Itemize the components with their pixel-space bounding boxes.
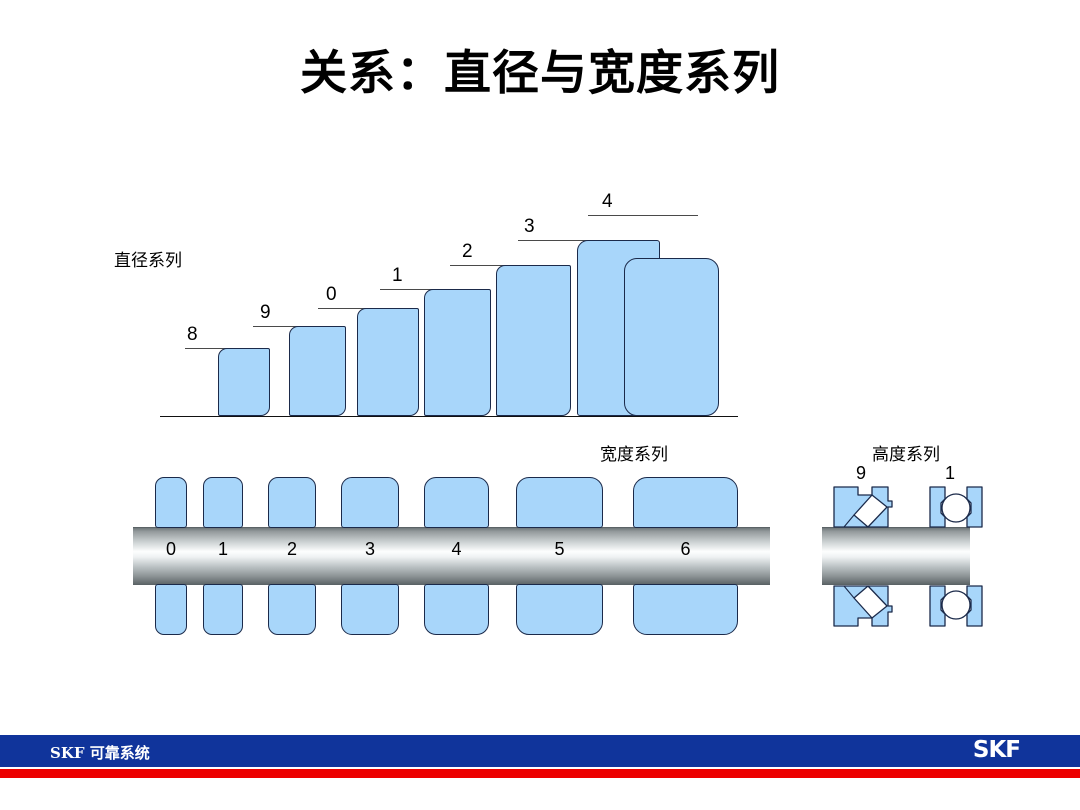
height-series-label: 高度系列 bbox=[872, 440, 940, 465]
width-bearing-top-6 bbox=[633, 477, 738, 528]
skf-logo: SKF bbox=[973, 737, 1020, 763]
width-bearing-bottom-0 bbox=[155, 584, 187, 635]
width-bearing-bottom-6 bbox=[633, 584, 738, 635]
width-bearing-label-2: 2 bbox=[268, 539, 316, 560]
dia-bar-label-9: 9 bbox=[260, 302, 271, 324]
width-bearing-top-2 bbox=[268, 477, 316, 528]
width-bearing-label-3: 3 bbox=[341, 539, 399, 560]
footer-text: SKF 可靠系统 bbox=[50, 742, 150, 763]
dia-bar-label-4: 4 bbox=[602, 191, 613, 213]
width-series-label: 宽度系列 bbox=[600, 440, 668, 465]
dia-bar-label-0: 0 bbox=[326, 284, 337, 306]
dia-bar-8 bbox=[218, 348, 270, 416]
footer-accent-bar bbox=[0, 769, 1080, 778]
dia-bar-0 bbox=[357, 308, 419, 416]
width-bearing-top-0 bbox=[155, 477, 187, 528]
width-bearing-bottom-1 bbox=[203, 584, 243, 635]
dia-bar-label-3: 3 bbox=[524, 216, 535, 238]
slide-canvas: 关系：直径与宽度系列 直径系列 8 9 0 1 2 3 4 bbox=[0, 0, 1080, 810]
width-bearing-bottom-5 bbox=[516, 584, 603, 635]
height-bearing-label-9: 9 bbox=[836, 463, 886, 484]
width-bearing-bottom-4 bbox=[424, 584, 489, 635]
width-bearing-bottom-2 bbox=[268, 584, 316, 635]
dia-bar-4 bbox=[624, 258, 719, 416]
ball-bearing-top-icon bbox=[928, 485, 984, 529]
width-bearing-label-4: 4 bbox=[424, 539, 489, 560]
width-bearing-label-1: 1 bbox=[203, 539, 243, 560]
dia-bar-label-2: 2 bbox=[462, 241, 473, 263]
diameter-baseline bbox=[160, 416, 738, 417]
dia-bar-label-8: 8 bbox=[187, 324, 198, 346]
diameter-series-label: 直径系列 bbox=[114, 246, 182, 271]
width-bearing-bottom-3 bbox=[341, 584, 399, 635]
height-series-shaft bbox=[822, 527, 970, 585]
footer-bar bbox=[0, 735, 1080, 767]
dia-bar-label-1: 1 bbox=[392, 265, 403, 287]
width-bearing-top-5 bbox=[516, 477, 603, 528]
dia-bar-1 bbox=[424, 289, 491, 416]
width-bearing-top-4 bbox=[424, 477, 489, 528]
width-bearing-top-1 bbox=[203, 477, 243, 528]
dia-bar-2 bbox=[496, 265, 571, 416]
tapered-roller-bearing-top-icon bbox=[832, 485, 894, 529]
height-bearing-label-1: 1 bbox=[925, 463, 975, 484]
width-bearing-label-6: 6 bbox=[633, 539, 738, 560]
ball-bearing-bottom-icon bbox=[928, 584, 984, 628]
width-bearing-label-0: 0 bbox=[155, 539, 187, 560]
width-bearing-label-5: 5 bbox=[516, 539, 603, 560]
leader-line-dia-4 bbox=[588, 215, 698, 216]
diameter-series-chart: 直径系列 8 9 0 1 2 3 4 bbox=[0, 0, 1080, 440]
width-bearing-top-3 bbox=[341, 477, 399, 528]
tapered-roller-bearing-bottom-icon bbox=[832, 584, 894, 628]
dia-bar-9 bbox=[289, 326, 346, 416]
